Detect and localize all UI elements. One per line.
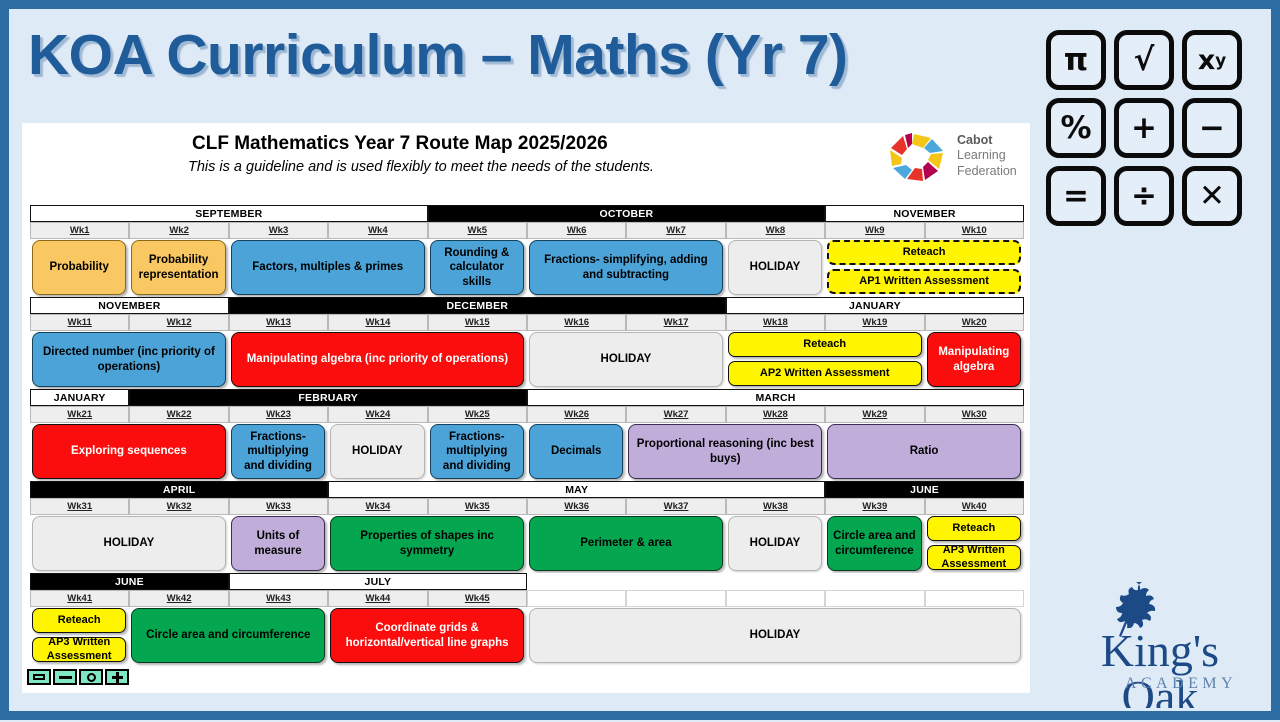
week-column: Wk45 xyxy=(428,590,527,607)
topic-block[interactable]: HOLIDAY xyxy=(529,608,1021,663)
week-number: Wk38 xyxy=(763,501,788,512)
ellipse-tool[interactable] xyxy=(79,669,103,685)
cabot-line-2: Learning xyxy=(957,148,1017,163)
week-label-wk1: Wk1 xyxy=(30,222,129,239)
week-label-wk21: Wk21 xyxy=(30,406,129,423)
week-column: Wk28 xyxy=(726,406,825,423)
week-number: Wk34 xyxy=(365,501,390,512)
equals-key[interactable]: = xyxy=(1046,166,1106,226)
week-number: Wk27 xyxy=(664,409,689,420)
week-column xyxy=(527,590,626,607)
week-column: Wk44 xyxy=(328,590,427,607)
week-column: Wk21 xyxy=(30,406,129,423)
week-column: Wk43 xyxy=(229,590,328,607)
week-number: Wk10 xyxy=(962,225,987,236)
week-column: Wk1 xyxy=(30,222,129,239)
topic-block[interactable]: Circle area and circumference xyxy=(131,608,325,663)
week-label-empty xyxy=(726,590,825,607)
month-label: APRIL xyxy=(30,481,328,498)
week-number: Wk24 xyxy=(365,409,390,420)
month-label: JANUARY xyxy=(30,389,129,406)
week-label-wk23: Wk23 xyxy=(229,406,328,423)
topic-block[interactable]: AP2 Written Assessment xyxy=(728,361,922,386)
week-label-wk17: Wk17 xyxy=(626,314,725,331)
week-column: Wk35 xyxy=(428,498,527,515)
topic-block[interactable]: Reteach xyxy=(927,516,1021,541)
school-logo: King's Oak ACADEMY xyxy=(1062,578,1258,696)
week-label-wk20: Wk20 xyxy=(925,314,1024,331)
route-map-row: NOVEMBERDECEMBERJANUARYWk11Wk12Wk13Wk14W… xyxy=(30,297,1024,388)
topic-block[interactable]: Exploring sequences xyxy=(32,424,226,479)
week-number: Wk31 xyxy=(67,501,92,512)
week-label-wk4: Wk4 xyxy=(328,222,427,239)
week-column: Wk25 xyxy=(428,406,527,423)
week-number: Wk9 xyxy=(865,225,885,236)
week-label-wk19: Wk19 xyxy=(825,314,924,331)
topic-block[interactable]: AP1 Written Assessment xyxy=(827,269,1021,294)
topic-block[interactable]: AP3 Written Assessment xyxy=(32,637,126,662)
topic-band: HOLIDAYUnits of measureProperties of sha… xyxy=(30,515,1024,572)
school-subtitle: ACADEMY xyxy=(1062,675,1258,693)
topic-block[interactable]: HOLIDAY xyxy=(32,516,226,571)
week-number: Wk41 xyxy=(67,593,92,604)
month-band: SEPTEMBEROCTOBERNOVEMBER xyxy=(30,205,1024,222)
week-number: Wk21 xyxy=(67,409,92,420)
week-column: Wk16 xyxy=(527,314,626,331)
week-column: Wk37 xyxy=(626,498,725,515)
document-subtitle: This is a guideline and is used flexibly… xyxy=(188,159,654,175)
week-number: Wk14 xyxy=(365,317,390,328)
topic-block[interactable]: Reteach xyxy=(32,608,126,633)
month-spacer xyxy=(527,573,1024,590)
week-label-wk11: Wk11 xyxy=(30,314,129,331)
week-number: Wk6 xyxy=(567,225,587,236)
month-band: JANUARYFEBRUARYMARCH xyxy=(30,389,1024,406)
week-column: Wk40 xyxy=(925,498,1024,515)
week-label-wk45: Wk45 xyxy=(428,590,527,607)
week-column: Wk5 xyxy=(428,222,527,239)
week-column: Wk14 xyxy=(328,314,427,331)
month-label: DECEMBER xyxy=(229,297,726,314)
topic-block[interactable]: Reteach xyxy=(827,240,1021,265)
minus-key[interactable]: − xyxy=(1182,98,1242,158)
topic-band: ProbabilityProbability representationFac… xyxy=(30,239,1024,296)
week-number: Wk17 xyxy=(664,317,689,328)
document-header: CLF Mathematics Year 7 Route Map 2025/20… xyxy=(22,123,1030,187)
week-column: Wk11 xyxy=(30,314,129,331)
multiply-key[interactable]: ✕ xyxy=(1182,166,1242,226)
week-column: Wk13 xyxy=(229,314,328,331)
route-map-grid: SEPTEMBEROCTOBERNOVEMBERWk1Wk2Wk3Wk4Wk5W… xyxy=(30,205,1024,665)
week-column: Wk7 xyxy=(626,222,725,239)
topic-block[interactable]: Fractions- multiplying and dividing xyxy=(430,424,524,479)
week-number: Wk40 xyxy=(962,501,987,512)
week-label-wk29: Wk29 xyxy=(825,406,924,423)
week-column xyxy=(925,590,1024,607)
week-number: Wk45 xyxy=(465,593,490,604)
week-header-band: Wk1Wk2Wk3Wk4Wk5Wk6Wk7Wk8Wk9Wk10 xyxy=(30,222,1024,239)
week-number: Wk23 xyxy=(266,409,291,420)
week-column: Wk4 xyxy=(328,222,427,239)
topic-block[interactable]: Manipulating algebra (inc priority of op… xyxy=(231,332,524,387)
week-label-wk42: Wk42 xyxy=(129,590,228,607)
cabot-logo: Cabot Learning Federation xyxy=(879,129,1025,185)
month-label: JANUARY xyxy=(726,297,1024,314)
week-number: Wk4 xyxy=(368,225,388,236)
week-column: Wk8 xyxy=(726,222,825,239)
week-label-wk39: Wk39 xyxy=(825,498,924,515)
percent-key[interactable]: % xyxy=(1046,98,1106,158)
week-number: Wk43 xyxy=(266,593,291,604)
month-label: JUNE xyxy=(825,481,1024,498)
week-number: Wk44 xyxy=(365,593,390,604)
route-map-row: JUNEJULYWk41Wk42Wk43Wk44Wk45ReteachAP3 W… xyxy=(30,573,1024,664)
week-column: Wk18 xyxy=(726,314,825,331)
cabot-ring-icon xyxy=(879,129,949,185)
route-map-row: JANUARYFEBRUARYMARCHWk21Wk22Wk23Wk24Wk25… xyxy=(30,389,1024,480)
week-column xyxy=(825,590,924,607)
topic-band: ReteachAP3 Written AssessmentCircle area… xyxy=(30,607,1024,664)
square-root-key[interactable]: √ xyxy=(1114,30,1174,90)
week-column: Wk24 xyxy=(328,406,427,423)
month-label: FEBRUARY xyxy=(129,389,527,406)
week-column: Wk10 xyxy=(925,222,1024,239)
topic-block[interactable]: Manipulating algebra xyxy=(927,332,1021,387)
week-column: Wk33 xyxy=(229,498,328,515)
circle-icon xyxy=(87,673,96,682)
week-number: Wk7 xyxy=(666,225,686,236)
week-column: Wk31 xyxy=(30,498,129,515)
week-column: Wk32 xyxy=(129,498,228,515)
week-number: Wk5 xyxy=(467,225,487,236)
week-label-wk14: Wk14 xyxy=(328,314,427,331)
week-column: Wk15 xyxy=(428,314,527,331)
week-number: Wk36 xyxy=(564,501,589,512)
week-number: Wk30 xyxy=(962,409,987,420)
topic-block[interactable]: Circle area and circumference xyxy=(827,516,921,571)
topic-block[interactable]: Fractions- multiplying and dividing xyxy=(231,424,325,479)
week-number: Wk11 xyxy=(68,317,92,328)
week-number: Wk16 xyxy=(564,317,589,328)
week-label-wk12: Wk12 xyxy=(129,314,228,331)
topic-block[interactable]: Coordinate grids & horizontal/vertical l… xyxy=(330,608,524,663)
week-label-wk30: Wk30 xyxy=(925,406,1024,423)
route-map-document[interactable]: CLF Mathematics Year 7 Route Map 2025/20… xyxy=(22,123,1030,693)
week-label-wk37: Wk37 xyxy=(626,498,725,515)
route-map-row: APRILMAYJUNEWk31Wk32Wk33Wk34Wk35Wk36Wk37… xyxy=(30,481,1024,572)
week-column: Wk2 xyxy=(129,222,228,239)
week-number: Wk12 xyxy=(167,317,192,328)
week-column: Wk34 xyxy=(328,498,427,515)
week-label-wk13: Wk13 xyxy=(229,314,328,331)
week-header-band: Wk11Wk12Wk13Wk14Wk15Wk16Wk17Wk18Wk19Wk20 xyxy=(30,314,1024,331)
week-number: Wk19 xyxy=(862,317,887,328)
month-label: OCTOBER xyxy=(428,205,826,222)
route-map-row: SEPTEMBEROCTOBERNOVEMBERWk1Wk2Wk3Wk4Wk5W… xyxy=(30,205,1024,296)
month-label: MAY xyxy=(328,481,825,498)
month-label: JULY xyxy=(229,573,527,590)
week-column: Wk27 xyxy=(626,406,725,423)
month-label: NOVEMBER xyxy=(30,297,229,314)
week-label-wk7: Wk7 xyxy=(626,222,725,239)
week-number: Wk13 xyxy=(266,317,291,328)
month-band: NOVEMBERDECEMBERJANUARY xyxy=(30,297,1024,314)
week-label-wk26: Wk26 xyxy=(527,406,626,423)
week-label-wk27: Wk27 xyxy=(626,406,725,423)
topic-block[interactable]: Proportional reasoning (inc best buys) xyxy=(628,424,822,479)
week-label-wk15: Wk15 xyxy=(428,314,527,331)
week-column: Wk9 xyxy=(825,222,924,239)
topic-band: Exploring sequencesFractions- multiplyin… xyxy=(30,423,1024,480)
week-label-wk3: Wk3 xyxy=(229,222,328,239)
week-label-wk38: Wk38 xyxy=(726,498,825,515)
month-label: NOVEMBER xyxy=(825,205,1024,222)
week-label-wk32: Wk32 xyxy=(129,498,228,515)
page-title: KOA Curriculum – Maths (Yr 7) xyxy=(28,22,848,88)
week-number: Wk29 xyxy=(862,409,887,420)
week-number: Wk8 xyxy=(766,225,786,236)
week-number: Wk33 xyxy=(266,501,291,512)
week-column: Wk6 xyxy=(527,222,626,239)
key-exponent: y xyxy=(1215,52,1226,69)
week-label-empty xyxy=(626,590,725,607)
topic-block[interactable]: AP3 Written Assessment xyxy=(927,545,1021,570)
week-label-wk8: Wk8 xyxy=(726,222,825,239)
week-label-wk35: Wk35 xyxy=(428,498,527,515)
week-label-wk9: Wk9 xyxy=(825,222,924,239)
week-number: Wk39 xyxy=(862,501,887,512)
week-label-empty xyxy=(527,590,626,607)
week-label-wk43: Wk43 xyxy=(229,590,328,607)
topic-block[interactable]: Decimals xyxy=(529,424,623,479)
plus-key[interactable]: + xyxy=(1114,98,1174,158)
topic-block[interactable]: Reteach xyxy=(728,332,922,357)
week-label-wk33: Wk33 xyxy=(229,498,328,515)
week-label-empty xyxy=(925,590,1024,607)
week-label-wk34: Wk34 xyxy=(328,498,427,515)
plus-icon xyxy=(112,672,123,683)
week-column: Wk20 xyxy=(925,314,1024,331)
topic-block[interactable]: HOLIDAY xyxy=(330,424,424,479)
week-column: Wk22 xyxy=(129,406,228,423)
topic-block[interactable]: Factors, multiples & primes xyxy=(231,240,425,295)
week-label-wk5: Wk5 xyxy=(428,222,527,239)
line-tool[interactable] xyxy=(53,669,77,685)
week-label-empty xyxy=(825,590,924,607)
week-column xyxy=(726,590,825,607)
week-header-band: Wk21Wk22Wk23Wk24Wk25Wk26Wk27Wk28Wk29Wk30 xyxy=(30,406,1024,423)
week-label-wk40: Wk40 xyxy=(925,498,1024,515)
document-title: CLF Mathematics Year 7 Route Map 2025/20… xyxy=(192,133,608,155)
math-operator-key-grid: π√xy%+−=÷✕ xyxy=(1046,30,1246,230)
week-label-wk18: Wk18 xyxy=(726,314,825,331)
week-column: Wk38 xyxy=(726,498,825,515)
rectangle-icon xyxy=(33,674,45,680)
week-number: Wk32 xyxy=(167,501,192,512)
week-label-wk24: Wk24 xyxy=(328,406,427,423)
week-column: Wk19 xyxy=(825,314,924,331)
week-number: Wk35 xyxy=(465,501,490,512)
topic-block[interactable]: Probability xyxy=(32,240,126,295)
topic-block[interactable]: Directed number (inc priority of operati… xyxy=(32,332,226,387)
topic-block[interactable]: Ratio xyxy=(827,424,1021,479)
month-band: APRILMAYJUNE xyxy=(30,481,1024,498)
week-column: Wk3 xyxy=(229,222,328,239)
add-shape-tool[interactable] xyxy=(105,669,129,685)
week-label-wk31: Wk31 xyxy=(30,498,129,515)
week-number: Wk22 xyxy=(167,409,192,420)
week-column: Wk42 xyxy=(129,590,228,607)
week-column: Wk30 xyxy=(925,406,1024,423)
topic-block[interactable]: HOLIDAY xyxy=(728,516,822,571)
topic-block[interactable]: HOLIDAY xyxy=(728,240,822,295)
power-key[interactable]: xy xyxy=(1182,30,1242,90)
line-icon xyxy=(59,676,72,679)
key-base: x xyxy=(1198,47,1215,74)
topic-band: Directed number (inc priority of operati… xyxy=(30,331,1024,388)
week-number: Wk28 xyxy=(763,409,788,420)
week-label-wk2: Wk2 xyxy=(129,222,228,239)
topic-block[interactable]: Units of measure xyxy=(231,516,325,571)
week-label-wk25: Wk25 xyxy=(428,406,527,423)
topic-block[interactable]: Rounding & calculator skills xyxy=(430,240,524,295)
topic-block[interactable]: Perimeter & area xyxy=(529,516,723,571)
divide-key[interactable]: ÷ xyxy=(1114,166,1174,226)
week-header-band: Wk31Wk32Wk33Wk34Wk35Wk36Wk37Wk38Wk39Wk40 xyxy=(30,498,1024,515)
week-header-band: Wk41Wk42Wk43Wk44Wk45 xyxy=(30,590,1024,607)
week-number: Wk1 xyxy=(70,225,90,236)
week-column: Wk36 xyxy=(527,498,626,515)
week-column xyxy=(626,590,725,607)
week-label-wk6: Wk6 xyxy=(527,222,626,239)
week-label-wk22: Wk22 xyxy=(129,406,228,423)
week-column: Wk29 xyxy=(825,406,924,423)
week-number: Wk20 xyxy=(962,317,987,328)
week-number: Wk26 xyxy=(564,409,589,420)
topic-block[interactable]: Fractions- simplifying, adding and subtr… xyxy=(529,240,723,295)
week-column: Wk12 xyxy=(129,314,228,331)
week-label-wk10: Wk10 xyxy=(925,222,1024,239)
month-label: JUNE xyxy=(30,573,229,590)
rectangle-tool[interactable] xyxy=(27,669,51,685)
week-number: Wk37 xyxy=(664,501,689,512)
week-number: Wk15 xyxy=(465,317,490,328)
week-number: Wk42 xyxy=(167,593,192,604)
week-label-wk44: Wk44 xyxy=(328,590,427,607)
pi-key[interactable]: π xyxy=(1046,30,1106,90)
month-label: MARCH xyxy=(527,389,1024,406)
cabot-line-3: Federation xyxy=(957,164,1017,179)
month-band: JUNEJULY xyxy=(30,573,1024,590)
cabot-logo-text: Cabot Learning Federation xyxy=(957,133,1017,179)
week-number: Wk3 xyxy=(269,225,289,236)
week-column: Wk39 xyxy=(825,498,924,515)
month-label: SEPTEMBER xyxy=(30,205,428,222)
week-column: Wk17 xyxy=(626,314,725,331)
school-name: King's Oak xyxy=(1062,628,1258,720)
cabot-line-1: Cabot xyxy=(957,133,1017,148)
week-label-wk41: Wk41 xyxy=(30,590,129,607)
week-label-wk28: Wk28 xyxy=(726,406,825,423)
week-column: Wk23 xyxy=(229,406,328,423)
week-column: Wk26 xyxy=(527,406,626,423)
topic-block[interactable]: Probability representation xyxy=(131,240,225,295)
week-number: Wk18 xyxy=(763,317,788,328)
shape-tool-strip[interactable] xyxy=(27,669,129,685)
week-column: Wk41 xyxy=(30,590,129,607)
week-number: Wk25 xyxy=(465,409,490,420)
week-label-wk16: Wk16 xyxy=(527,314,626,331)
week-number: Wk2 xyxy=(169,225,189,236)
topic-block[interactable]: HOLIDAY xyxy=(529,332,723,387)
topic-block[interactable]: Properties of shapes inc symmetry xyxy=(330,516,524,571)
week-label-wk36: Wk36 xyxy=(527,498,626,515)
